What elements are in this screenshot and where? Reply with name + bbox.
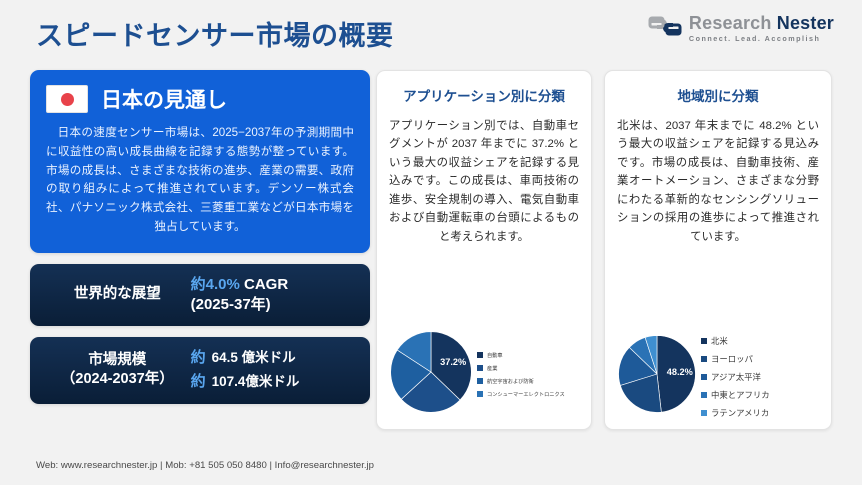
legend-swatch [701,410,707,416]
legend-label: コンシューマーエレクトロニクス [487,391,565,398]
region-card-title: 地域別に分類 [617,87,819,107]
legend-item: コンシューマーエレクトロニクス [477,391,565,398]
region-card-body: 北米は、2037 年末までに 48.2% という最大の収益シェアを記録する見込み… [617,117,819,247]
region-chart-area: 48.2% 北米ヨーロッパアジア太平洋中東とアフリカラテンアメリカ [617,334,819,419]
japan-flag-icon [46,85,88,113]
logo-word-research: Research [689,13,777,33]
application-pie-legend: 自動車産業航空宇宙および防衛コンシューマーエレクトロニクス [477,352,565,398]
market-size-values: 約 64.5 億米ドル 約 107.4億米ドル [191,348,356,393]
global-outlook-label: 世界的な展望 [44,285,191,305]
market-size-stat: 市場規模 （2024-2037年） 約 64.5 億米ドル 約 107.4億米ド… [30,337,370,404]
region-pie-chart: 48.2% [617,334,697,419]
legend-swatch [477,378,483,384]
application-chart-area: 37.2% 自動車産業航空宇宙および防衛コンシューマーエレクトロニクス [389,330,579,419]
application-card-title: アプリケーション別に分類 [389,87,579,107]
legend-item: 北米 [701,335,770,347]
footer-contact: Web: www.researchnester.jp | Mob: +81 50… [36,460,374,471]
legend-swatch [477,352,483,358]
japan-outlook-card: 日本の見通し 日本の速度センサー市場は、2025−2037年の予測期間中に収益性… [30,70,370,253]
japan-card-title: 日本の見通し [101,84,227,114]
global-outlook-stat: 世界的な展望 約4.0% CAGR (2025-37年) [30,264,370,327]
market-size-label: 市場規模 （2024-2037年） [44,351,191,390]
legend-label: 北米 [711,335,728,347]
page-header: スピードセンサー市場の概要 Research Nester Connect. L… [0,0,862,62]
logo-word-nester: Nester [777,13,834,33]
market-size-value-2: 107.4億米ドル [212,373,300,391]
legend-label: アジア太平洋 [711,371,761,383]
left-column: 日本の見通し 日本の速度センサー市場は、2025−2037年の予測期間中に収益性… [30,70,370,404]
legend-swatch [701,356,707,362]
brand-logo: Research Nester Connect. Lead. Accomplis… [648,14,834,43]
legend-swatch [701,374,707,380]
application-pie-chart: 37.2% [389,330,473,419]
legend-label: ヨーロッパ [711,353,753,365]
legend-swatch [701,338,707,344]
legend-item: 中東とアフリカ [701,389,770,401]
region-pie-legend: 北米ヨーロッパアジア太平洋中東とアフリカラテンアメリカ [701,335,770,419]
cagr-rest: CAGR [240,276,288,293]
legend-label: ラテンアメリカ [711,407,769,419]
region-pie-slice-label: 48.2% [667,367,693,377]
cagr-accent: 約4.0% [191,276,240,293]
logo-tagline: Connect. Lead. Accomplish [689,35,834,42]
legend-item: 産業 [477,365,565,372]
application-pie-slice-label: 37.2% [440,357,466,367]
application-segmentation-card: アプリケーション別に分類 アプリケーション別では、自動車セグメントが 2037 … [376,70,592,430]
legend-item: 航空宇宙および防衛 [477,378,565,385]
market-size-label-line2: （2024-2037年） [44,370,191,390]
legend-item: 自動車 [477,352,565,359]
legend-item: ヨーロッパ [701,353,770,365]
legend-item: ラテンアメリカ [701,407,770,419]
legend-label: 中東とアフリカ [711,389,770,401]
japan-card-header: 日本の見通し [46,84,354,114]
legend-label: 自動車 [487,352,503,359]
application-card-body: アプリケーション別では、自動車セグメントが 2037 年までに 37.2% とい… [389,117,579,247]
legend-swatch [701,392,707,398]
market-size-label-line1: 市場規模 [44,351,191,371]
legend-label: 航空宇宙および防衛 [487,378,534,385]
global-outlook-value: 約4.0% CAGR (2025-37年) [191,275,356,316]
market-size-accent-2: 約 [191,372,206,392]
page-title: スピードセンサー市場の概要 [36,14,394,53]
market-size-accent-1: 約 [191,348,206,368]
link-chain-icon [648,14,682,43]
market-size-row: 約 64.5 億米ドル [191,348,356,368]
market-size-value-1: 64.5 億米ドル [212,349,296,367]
legend-swatch [477,391,483,397]
legend-item: アジア太平洋 [701,371,770,383]
logo-text: Research Nester Connect. Lead. Accomplis… [689,14,834,42]
japan-card-body: 日本の速度センサー市場は、2025−2037年の予測期間中に収益性の高い成長曲線… [46,124,354,237]
legend-swatch [477,365,483,371]
region-segmentation-card: 地域別に分類 北米は、2037 年末までに 48.2% という最大の収益シェアを… [604,70,832,430]
market-size-row: 約 107.4億米ドル [191,372,356,392]
cagr-period: (2025-37年) [191,295,356,315]
legend-label: 産業 [487,365,497,372]
